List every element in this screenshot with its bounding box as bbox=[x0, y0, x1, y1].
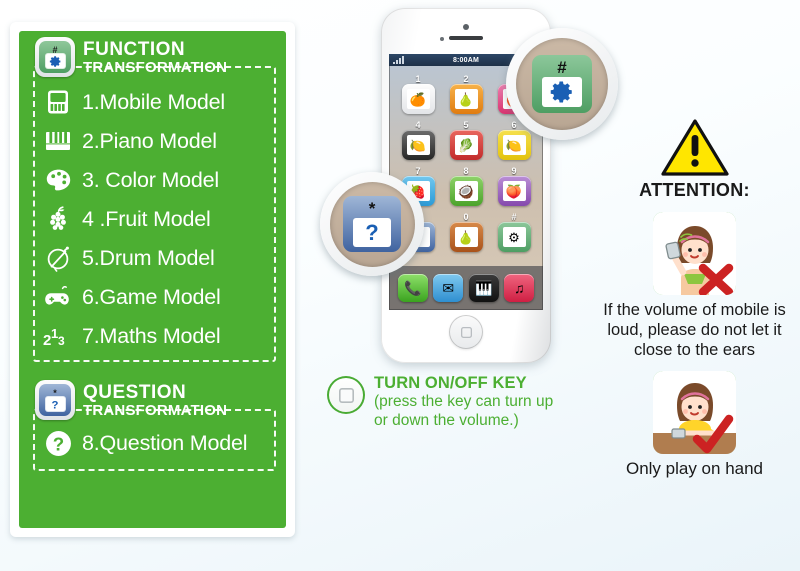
status-time: 8:00AM bbox=[453, 57, 479, 64]
piano-keys-icon bbox=[43, 126, 73, 156]
question-key-magnifier: * ? bbox=[320, 172, 424, 276]
home-button[interactable] bbox=[449, 315, 483, 349]
message-app-icon[interactable]: ✉ bbox=[433, 274, 463, 302]
app-icon[interactable]: 2🍐 bbox=[445, 74, 487, 114]
warning-illustration-ear bbox=[653, 212, 736, 295]
function-badge-icon: # bbox=[35, 37, 75, 77]
warning-text-hand: Only play on hand bbox=[592, 459, 797, 480]
list-item[interactable]: 6.Game Model bbox=[35, 279, 274, 315]
app-icon[interactable]: 1🍊 bbox=[397, 74, 439, 114]
list-item[interactable]: ? 8.Question Model bbox=[35, 425, 274, 461]
list-item-label: 4 .Fruit Model bbox=[82, 207, 211, 232]
app-icon-number: 2 bbox=[463, 74, 468, 84]
numbers-math-icon: 2 1 3 bbox=[43, 321, 73, 351]
infographic-canvas: # FUNCTION TRANSFORMATION bbox=[0, 0, 800, 571]
turn-key-title: TURN ON/OFF KEY bbox=[374, 374, 564, 393]
green-panel-body: # FUNCTION TRANSFORMATION bbox=[19, 31, 286, 528]
drum-icon bbox=[43, 243, 73, 273]
app-icon[interactable]: 8🥥 bbox=[445, 166, 487, 206]
svg-text:?: ? bbox=[51, 399, 58, 410]
warning-text-ear: If the volume of mobile is loud, please … bbox=[592, 300, 797, 360]
earpiece-speaker bbox=[449, 36, 483, 40]
signal-bars-icon bbox=[393, 56, 404, 64]
front-camera-icon bbox=[463, 24, 469, 30]
app-icon-number: 7 bbox=[415, 166, 420, 176]
turn-key-note: (press the key can turn up or down the v… bbox=[374, 393, 564, 430]
list-item[interactable]: 5.Drum Model bbox=[35, 240, 274, 276]
magnified-function-symbol: # bbox=[557, 61, 566, 75]
svg-text:3: 3 bbox=[58, 334, 65, 348]
app-icon[interactable]: #⚙ bbox=[493, 212, 535, 252]
question-circle-icon: ? bbox=[43, 428, 73, 458]
app-icon-tile: 🍐 bbox=[450, 222, 483, 252]
app-dock: 📞✉🎹♫ bbox=[389, 266, 543, 310]
app-icon-glyph: 🍑 bbox=[503, 181, 526, 201]
paint-palette-icon bbox=[43, 165, 73, 195]
app-icon-glyph: 🍐 bbox=[455, 89, 478, 109]
app-icon[interactable]: 5🥬 bbox=[445, 120, 487, 160]
phone-app-icon[interactable]: 📞 bbox=[398, 274, 428, 302]
mobile-phone-icon bbox=[43, 87, 73, 117]
app-icon-tile: ⚙ bbox=[498, 222, 531, 252]
warning-illustration-hand bbox=[653, 371, 736, 454]
app-icon-glyph: ⚙ bbox=[503, 227, 526, 247]
app-icon[interactable]: 4🍋 bbox=[397, 120, 439, 160]
svg-text:?: ? bbox=[365, 220, 378, 245]
app-icon-number: 1 bbox=[415, 74, 420, 84]
list-item[interactable]: 2 1 3 7.Maths Model bbox=[35, 318, 274, 354]
app-icon-tile: 🍐 bbox=[450, 84, 483, 114]
app-icon-number: 8 bbox=[463, 166, 468, 176]
app-icon-glyph: 🥬 bbox=[455, 135, 478, 155]
function-badge-symbol: # bbox=[52, 46, 57, 54]
function-list-panel: # FUNCTION TRANSFORMATION bbox=[10, 22, 295, 537]
list-item[interactable]: 1.Mobile Model bbox=[35, 84, 274, 120]
function-section-title: FUNCTION TRANSFORMATION bbox=[83, 40, 227, 75]
app-icon-glyph: 🍋 bbox=[503, 135, 526, 155]
attention-label: ATTENTION: bbox=[592, 180, 797, 201]
list-item-label: 3. Color Model bbox=[82, 168, 219, 193]
list-item-label: 6.Game Model bbox=[82, 285, 221, 310]
app-icon-glyph: 🍊 bbox=[407, 89, 430, 109]
turn-on-off-callout: TURN ON/OFF KEY (press the key can turn … bbox=[327, 374, 564, 430]
app-icon[interactable]: 9🍑 bbox=[493, 166, 535, 206]
app-icon-tile: 🍋 bbox=[498, 130, 531, 160]
list-item-label: 2.Piano Model bbox=[82, 129, 217, 154]
list-item-label: 1.Mobile Model bbox=[82, 90, 225, 115]
list-item-label: 5.Drum Model bbox=[82, 246, 215, 271]
list-item-label: 8.Question Model bbox=[82, 431, 247, 456]
app-icon-tile: 🍑 bbox=[498, 176, 531, 206]
app-icon-tile: 🍋 bbox=[402, 130, 435, 160]
svg-text:?: ? bbox=[52, 433, 63, 454]
question-mark-icon: ? bbox=[353, 218, 391, 247]
app-icon-glyph: 🍋 bbox=[407, 135, 430, 155]
app-icon-tile: 🥬 bbox=[450, 130, 483, 160]
warning-triangle-icon bbox=[660, 118, 730, 178]
gear-icon bbox=[542, 77, 582, 107]
app-icon-tile: 🍊 bbox=[402, 84, 435, 114]
question-mark-icon: ? bbox=[46, 397, 65, 411]
question-badge-icon: * ? bbox=[35, 380, 75, 420]
app-icon-glyph: 🥥 bbox=[455, 181, 478, 201]
list-item[interactable]: 3. Color Model bbox=[35, 162, 274, 198]
app-icon-number: 5 bbox=[463, 120, 468, 130]
app-icon-number: 6 bbox=[511, 120, 516, 130]
power-home-key-icon bbox=[327, 376, 365, 414]
app-icon-number: # bbox=[511, 212, 516, 222]
music-app-icon[interactable]: ♫ bbox=[504, 274, 534, 302]
app-icon-number: 0 bbox=[463, 212, 468, 222]
app-icon-number: 9 bbox=[511, 166, 516, 176]
function-section-header: # FUNCTION TRANSFORMATION bbox=[19, 31, 286, 79]
gamepad-icon bbox=[43, 282, 73, 312]
question-section-header: * ? QUESTION TRANSFORMATION bbox=[19, 374, 286, 422]
function-items-box: 1.Mobile Model bbox=[33, 66, 276, 362]
list-item[interactable]: 4 .Fruit Model bbox=[35, 201, 274, 237]
piano-app-icon[interactable]: 🎹 bbox=[469, 274, 499, 302]
gear-icon bbox=[46, 54, 65, 68]
magnified-question-symbol: * bbox=[369, 202, 376, 216]
list-item[interactable]: 2.Piano Model bbox=[35, 123, 274, 159]
app-icon[interactable]: 0🍐 bbox=[445, 212, 487, 252]
app-icon-tile: 🥥 bbox=[450, 176, 483, 206]
sensor-icon bbox=[440, 37, 444, 41]
question-section-title: QUESTION TRANSFORMATION bbox=[83, 383, 227, 418]
list-item-label: 7.Maths Model bbox=[82, 324, 220, 349]
question-badge-symbol: * bbox=[53, 389, 57, 397]
grapes-fruit-icon bbox=[43, 204, 73, 234]
attention-section: ATTENTION: bbox=[592, 118, 797, 480]
app-icon-glyph: 🍐 bbox=[455, 227, 478, 247]
app-icon-number: 4 bbox=[415, 120, 420, 130]
